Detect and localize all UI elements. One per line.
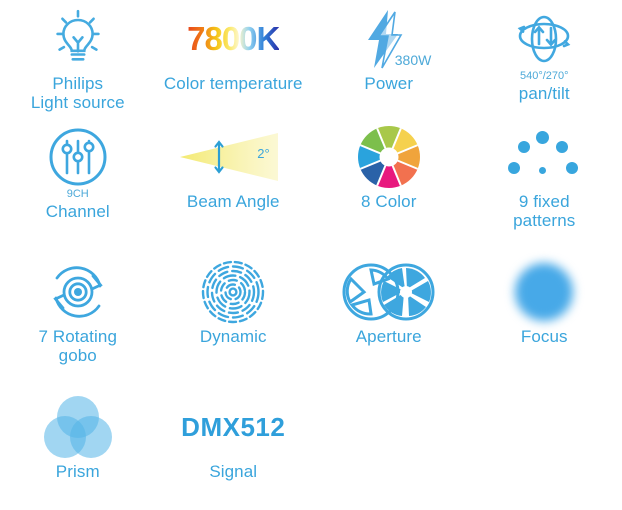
feature-label: Prism: [56, 462, 100, 481]
feature-aperture: Aperture: [311, 253, 467, 388]
feature-label: 9 fixedpatterns: [513, 192, 575, 230]
prism-circles-icon: [0, 394, 156, 460]
feature-label: pan/tilt: [519, 84, 570, 103]
color-temperature-value: 7800K: [187, 20, 279, 58]
feature-dynamic: Dynamic: [156, 253, 312, 388]
lightbulb-icon: [0, 6, 156, 72]
feature-channel: 9CH Channel: [0, 118, 156, 253]
pattern-dots-icon: [467, 124, 622, 190]
color-wheel-icon: [311, 124, 467, 190]
feature-focus: Focus: [467, 253, 622, 388]
feature-label: Dynamic: [200, 327, 267, 346]
feature-pan-tilt: 540°/270° pan/tilt: [467, 0, 622, 118]
aperture-iris-icon: [311, 259, 467, 325]
feature-label: Color temperature: [164, 74, 303, 93]
feature-label-line1: 7 Rotating: [39, 327, 118, 346]
dmx-signal-text: DMX512: [156, 394, 312, 460]
feature-beam-angle: 2° Beam Angle: [156, 118, 312, 253]
focus-blur-icon: [467, 259, 622, 325]
feature-label: 8 Color: [361, 192, 417, 211]
feature-label: Signal: [209, 462, 257, 481]
feature-label-line1: 9 fixed: [519, 192, 570, 211]
feature-power: 380W Power: [311, 0, 467, 118]
feature-grid: PhilipsLight source 7800K Color temperat…: [0, 0, 622, 510]
lightning-bolt-icon: 380W: [311, 6, 467, 72]
pattern-dots: [506, 131, 582, 183]
rotating-gobo-icon: [0, 259, 156, 325]
beam-cone-icon: 2°: [156, 124, 312, 190]
feature-label-line2: Light source: [31, 93, 125, 112]
feature-label: Aperture: [356, 327, 422, 346]
feature-label: Focus: [521, 327, 568, 346]
feature-color-temperature: 7800K Color temperature: [156, 0, 312, 118]
power-value: 380W: [395, 52, 432, 68]
feature-signal: DMX512 Signal: [156, 388, 312, 510]
feature-label-line1: Philips: [52, 74, 103, 93]
feature-label: Power: [364, 74, 413, 93]
feature-8-color: 8 Color: [311, 118, 467, 253]
color-wheel: [358, 126, 420, 188]
feature-prism: Prism: [0, 388, 156, 510]
color-temperature-text: 7800K: [156, 6, 312, 72]
focus-blob: [515, 263, 573, 321]
feature-label: PhilipsLight source: [31, 74, 125, 112]
pan-tilt-rotation-icon: [467, 6, 622, 72]
feature-rotating-gobo: 7 Rotatinggobo: [0, 253, 156, 388]
feature-label-line2: gobo: [59, 346, 97, 365]
feature-fixed-patterns: 9 fixedpatterns: [467, 118, 622, 253]
dmx-value: DMX512: [181, 412, 285, 443]
feature-label: Channel: [46, 202, 110, 221]
dynamic-maze-icon: [156, 259, 312, 325]
feature-philips-light-source: PhilipsLight source: [0, 0, 156, 118]
feature-label: Beam Angle: [187, 192, 280, 211]
channel-sliders-icon: [0, 124, 156, 190]
feature-label-line2: patterns: [513, 211, 575, 230]
beam-angle-value: 2°: [257, 146, 269, 161]
prism-circles: [44, 396, 112, 458]
feature-label: 7 Rotatinggobo: [39, 327, 118, 365]
